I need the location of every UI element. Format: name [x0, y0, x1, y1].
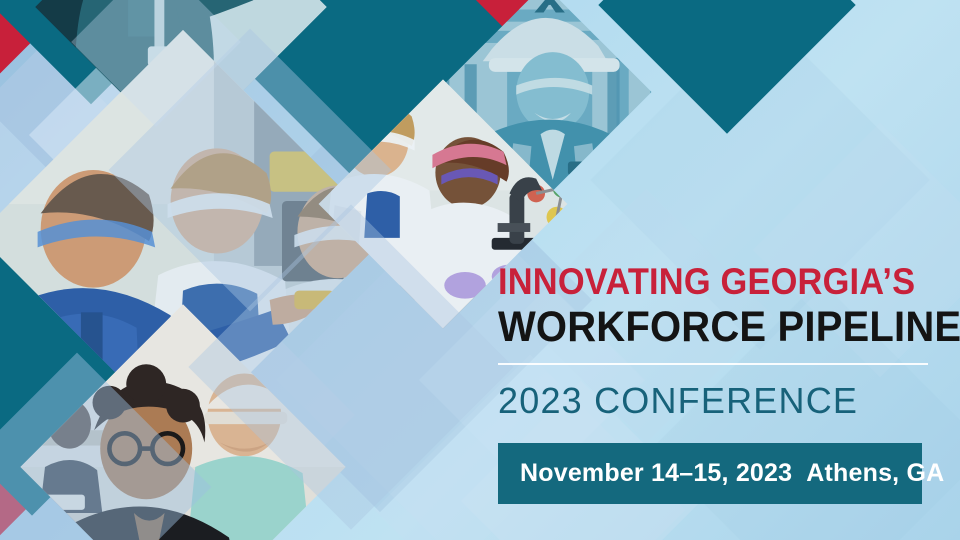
conference-location: Athens, GA	[792, 459, 944, 488]
date-location-bar: November 14–15, 2023 Athens, GA	[498, 443, 922, 504]
headline-divider	[498, 363, 928, 365]
conference-subhead: 2023 CONFERENCE	[498, 381, 930, 421]
headline-block: INNOVATING GEORGIA’S WORKFORCE PIPELINE …	[498, 262, 930, 421]
conference-promo-graphic: INNOVATING GEORGIA’S WORKFORCE PIPELINE …	[0, 0, 960, 540]
headline-line-2: WORKFORCE PIPELINE	[498, 304, 900, 350]
headline-line-1: INNOVATING GEORGIA’S	[498, 262, 900, 302]
conference-dates: November 14–15, 2023	[498, 459, 792, 488]
